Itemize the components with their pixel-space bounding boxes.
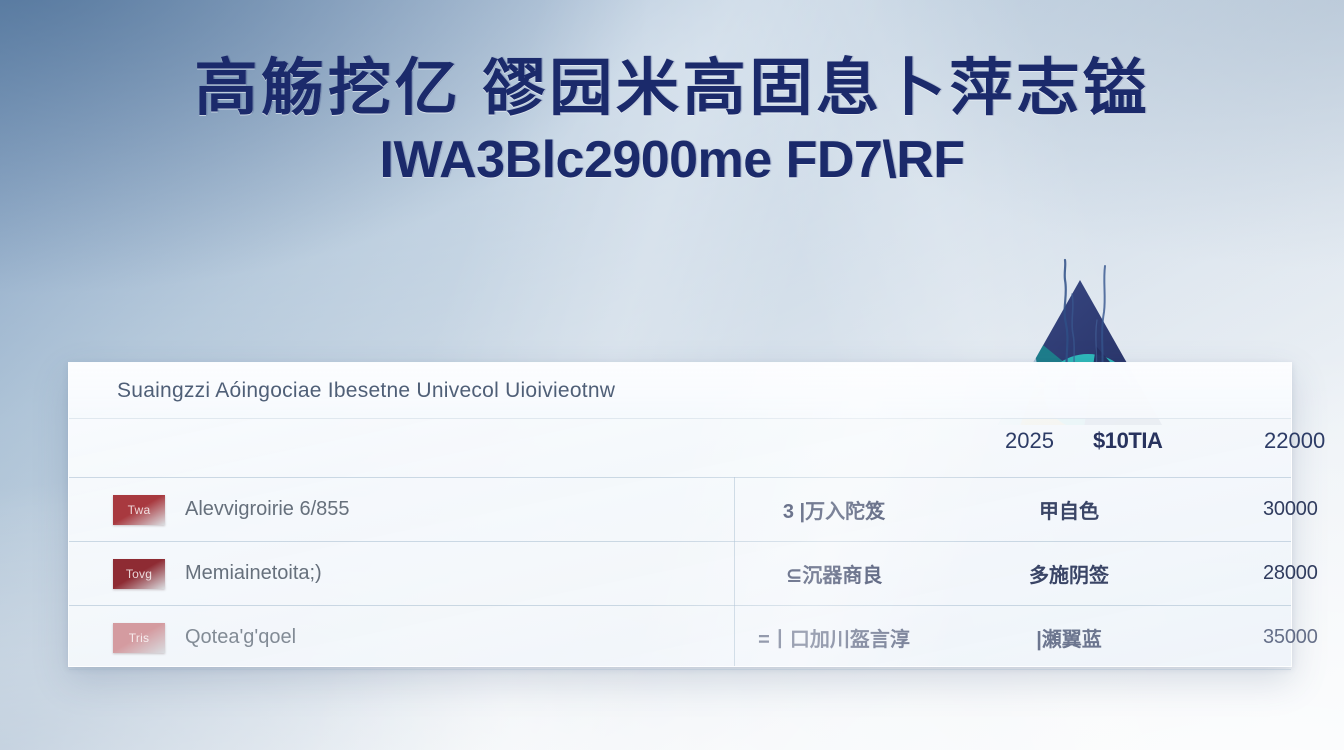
page-title-line-2: IWA3Blc2900me FD7\RF bbox=[0, 134, 1344, 186]
table-row[interactable]: Tovg Memiainetoita;) ⊆沉器商良 多施阴签 28000 bbox=[69, 541, 1291, 605]
table-row[interactable]: Twa Alevvigroirie 6/855 3 |万入陀笈 甲自色 3000… bbox=[69, 477, 1291, 541]
page-title: 高觞挖亿 豂园米高固息卜萍志镒 IWA3Blc2900me FD7\RF bbox=[0, 58, 1344, 186]
row-label: Alevvigroirie 6/855 bbox=[185, 498, 350, 521]
row-cell-metric: 多施阴签 bbox=[1029, 559, 1109, 588]
row-cell-year: =丨口加川盔言淳 bbox=[758, 623, 910, 652]
row-cell-year: ⊆沉器商良 bbox=[786, 559, 883, 588]
row-label: Memiainetoita;) bbox=[185, 562, 322, 585]
data-panel: Suaingzzi Aóingociae Ibesetne Univecol U… bbox=[68, 362, 1292, 667]
table-column-header-row: 2025 $10TIA 22000 bbox=[69, 419, 1291, 463]
row-cell-amount: 30000 bbox=[1263, 498, 1318, 521]
row-cell-metric: |瀬翼蓝 bbox=[1036, 623, 1102, 652]
row-cell-metric: 甲自色 bbox=[1039, 495, 1099, 524]
column-header-year: 2025 bbox=[1005, 428, 1054, 454]
row-cell-amount: 35000 bbox=[1263, 626, 1318, 649]
row-label: Qotea'g'qoel bbox=[185, 626, 296, 649]
row-badge[interactable]: Tovg bbox=[113, 559, 165, 589]
panel-header: Suaingzzi Aóingociae Ibesetne Univecol U… bbox=[69, 363, 1291, 419]
page-title-line-1: 高觞挖亿 豂园米高固息卜萍志镒 bbox=[0, 58, 1344, 120]
row-cell-amount: 28000 bbox=[1263, 562, 1318, 585]
row-cell-year: 3 |万入陀笈 bbox=[783, 495, 885, 524]
organization-title: Suaingzzi Aóingociae Ibesetne Univecol U… bbox=[117, 379, 615, 403]
table-row[interactable]: Tris Qotea'g'qoel =丨口加川盔言淳 |瀬翼蓝 35000 bbox=[69, 605, 1291, 670]
row-badge[interactable]: Twa bbox=[113, 495, 165, 525]
column-header-metric: $10TIA bbox=[1093, 428, 1163, 454]
column-header-amount: 22000 bbox=[1264, 428, 1325, 454]
row-badge[interactable]: Tris bbox=[113, 623, 165, 653]
data-table: Twa Alevvigroirie 6/855 3 |万入陀笈 甲自色 3000… bbox=[69, 477, 1291, 670]
